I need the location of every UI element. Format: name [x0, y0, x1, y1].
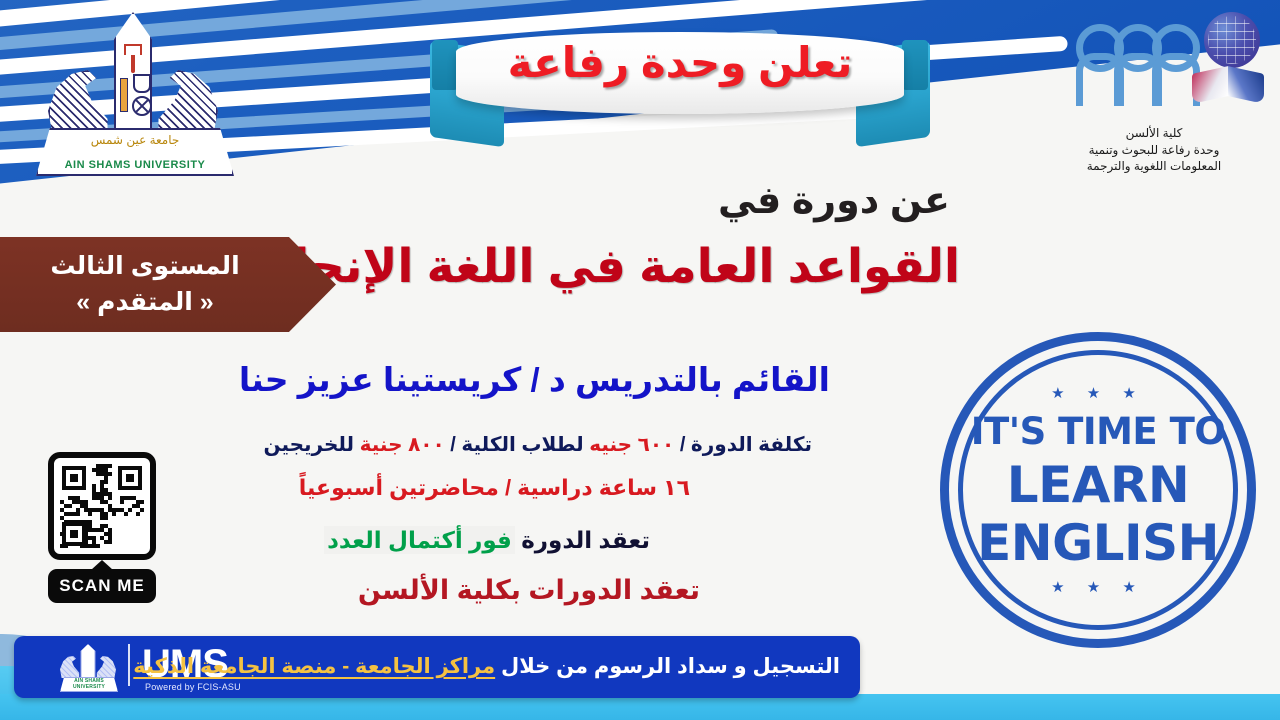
- course-fee-line: تكلفة الدورة / ٦٠٠ جنيه لطلاب الكلية / ٨…: [263, 432, 812, 457]
- stamp-stars-top: ★ ★ ★: [1051, 386, 1145, 401]
- level-badge-line-2: « المتقدم »: [0, 287, 290, 317]
- course-poster: جامعة عين شمس AIN SHAMS UNIVERSITY كلية …: [0, 0, 1280, 720]
- mini-obelisk-icon: [81, 644, 96, 680]
- stamp-line-2: LEARN: [1007, 460, 1190, 510]
- instructor-name: القائم بالتدريس د / كريستينا عزيز حنا: [239, 360, 830, 399]
- qr-finder-top-right: [118, 466, 142, 490]
- rifaa-logo-line-3: المعلومات اللغوية والترجمة: [1046, 158, 1262, 174]
- mini-logo-caption: AIN SHAMS UNIVERSITY: [61, 678, 117, 690]
- open-book-icon: [1192, 60, 1264, 100]
- level-badge-line-1: المستوى الثالث: [0, 251, 290, 281]
- ain-shams-university-logo: جامعة عين شمس AIN SHAMS UNIVERSITY: [28, 6, 238, 176]
- qr-finder-bottom-left: [62, 522, 86, 546]
- fee-graduates-for: للخريجين: [263, 434, 359, 456]
- ribbon-title: تعلن وحدة رفاعة: [430, 38, 930, 87]
- qr-code-image[interactable]: [48, 452, 156, 560]
- registration-bar: AIN SHAMS UNIVERSITY UMS Powered by FCIS…: [14, 636, 860, 698]
- rifaa-logo-line-1: كلية الألسن: [1046, 125, 1262, 141]
- stamp-stars-bottom: ★ ★ ★: [1051, 580, 1145, 595]
- announcement-ribbon: تعلن وحدة رفاعة: [430, 16, 930, 146]
- person-icon: [1156, 24, 1196, 106]
- eagle-left-icon: [48, 70, 110, 136]
- fee-label: تكلفة الدورة /: [674, 434, 812, 456]
- start-condition-highlight: فور أكتمال العدد: [324, 526, 515, 554]
- wheel-icon: [132, 96, 152, 116]
- level-badge: المستوى الثالث « المتقدم »: [0, 237, 336, 332]
- stamp-line-1: IT'S TIME TO: [971, 413, 1226, 450]
- ain-shams-english-name: AIN SHAMS UNIVERSITY: [38, 159, 232, 171]
- registration-link[interactable]: مراكز الجامعة - منصة الجامعة الذكية: [133, 655, 495, 678]
- course-subheading: عن دورة في: [718, 178, 950, 223]
- fee-graduates-amount: ٨٠٠ جنية: [360, 434, 445, 456]
- start-condition-prefix: تعقد الدورة: [515, 527, 650, 553]
- scan-me-label: SCAN ME: [48, 569, 156, 603]
- mini-eagle-left-icon: [60, 656, 80, 678]
- obelisk-mark-icon: [124, 44, 142, 55]
- its-time-to-learn-english-stamp: ★ ★ ★ IT'S TIME TO LEARN ENGLISH ★ ★ ★: [940, 332, 1256, 648]
- logo-nameplate: جامعة عين شمس AIN SHAMS UNIVERSITY: [36, 128, 234, 176]
- obelisk-pillar-icon: [120, 78, 128, 112]
- obelisk-drop-icon: [131, 55, 135, 73]
- mini-eagle-right-icon: [96, 656, 116, 678]
- shield-icon: [133, 74, 151, 93]
- rifaa-logo-text: كلية الألسن وحدة رفاعة للبحوث وتنمية الم…: [1046, 125, 1262, 174]
- eagle-right-icon: [156, 70, 218, 136]
- course-start-condition-line: تعقد الدورة فور أكتمال العدد: [324, 527, 650, 554]
- ain-shams-arabic-name: جامعة عين شمس: [38, 133, 232, 147]
- qr-code-block[interactable]: SCAN ME: [34, 452, 156, 603]
- course-hours-line: ١٦ ساعة دراسية / محاضرتين أسبوعياً: [299, 475, 690, 501]
- ums-divider: [128, 644, 130, 686]
- mini-logo-nameplate: AIN SHAMS UNIVERSITY: [60, 677, 118, 692]
- qr-finder-top-left: [62, 466, 86, 490]
- ums-university-mini-logo: AIN SHAMS UNIVERSITY: [60, 642, 116, 692]
- stamp-line-3: ENGLISH: [977, 518, 1219, 568]
- registration-prefix: التسجيل و سداد الرسوم من خلال: [495, 655, 840, 678]
- people-group-icon: [1080, 20, 1200, 106]
- registration-text: التسجيل و سداد الرسوم من خلال مراكز الجا…: [133, 654, 840, 679]
- course-location-line: تعقد الدورات بكلية الألسن: [358, 575, 700, 606]
- ums-powered-by: Powered by FCIS-ASU: [145, 682, 241, 692]
- fee-students-amount: ٦٠٠ جنيه: [589, 434, 674, 456]
- fee-students-for: لطلاب الكلية /: [445, 434, 590, 456]
- rifaa-unit-logo: كلية الألسن وحدة رفاعة للبحوث وتنمية الم…: [1046, 8, 1266, 176]
- rifaa-logo-line-2: وحدة رفاعة للبحوث وتنمية: [1046, 142, 1262, 158]
